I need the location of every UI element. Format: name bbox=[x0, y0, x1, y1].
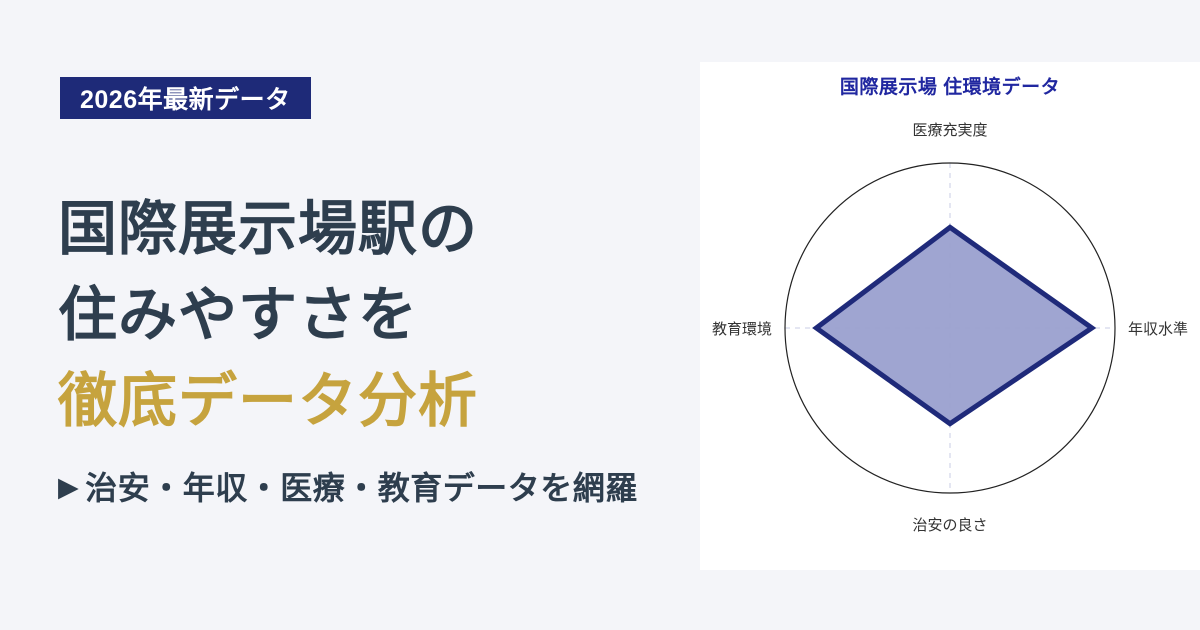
radar-label-right: 年収水準 bbox=[1128, 321, 1188, 338]
poster-canvas: 2026年最新データ 国際展示場駅の 住みやすさを 徹底データ分析 ▶ 治安・年… bbox=[0, 0, 1200, 630]
headline-line-3-accent: 徹底データ分析 bbox=[58, 358, 698, 444]
headline-line-1: 国際展示場駅の bbox=[58, 186, 698, 272]
chart-card: 国際展示場 住環境データ 医療充実度 年収水準 治安の良さ 教育環境 bbox=[700, 62, 1200, 570]
left-content-column: 2026年最新データ 国際展示場駅の 住みやすさを 徹底データ分析 ▶ 治安・年… bbox=[0, 0, 700, 630]
date-badge: 2026年最新データ bbox=[60, 77, 311, 119]
page-title: 国際展示場駅の 住みやすさを 徹底データ分析 bbox=[58, 186, 698, 444]
radar-chart: 医療充実度 年収水準 治安の良さ 教育環境 bbox=[700, 62, 1200, 570]
radar-data-polygon bbox=[816, 227, 1092, 423]
headline-line-2: 住みやすさを bbox=[58, 272, 698, 358]
triangle-bullet-icon: ▶ bbox=[58, 474, 79, 501]
radar-label-bottom: 治安の良さ bbox=[912, 517, 987, 534]
subtitle: ▶ 治安・年収・医療・教育データを網羅 bbox=[58, 466, 638, 510]
radar-label-left: 教育環境 bbox=[712, 320, 772, 338]
subtitle-text: 治安・年収・医療・教育データを網羅 bbox=[85, 466, 638, 510]
radar-label-top: 医療充実度 bbox=[912, 122, 987, 139]
